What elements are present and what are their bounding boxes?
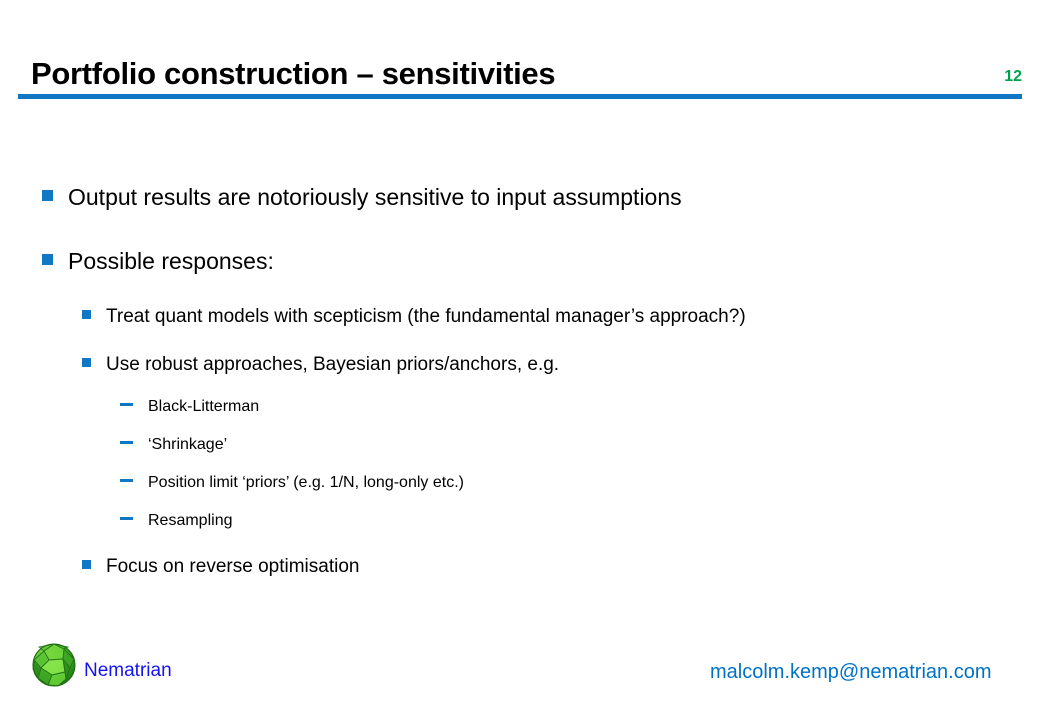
dash-bullet-icon bbox=[120, 479, 133, 482]
square-bullet-icon bbox=[82, 560, 91, 569]
dash-bullet-icon bbox=[120, 403, 133, 406]
square-bullet-icon bbox=[42, 190, 53, 201]
bullet-text: Possible responses: bbox=[68, 248, 274, 275]
dash-bullet-icon bbox=[120, 517, 133, 520]
bullet-item-level-3: Resampling bbox=[120, 512, 232, 530]
bullet-item-level-3: Position limit ‘priors’ (e.g. 1/N, long-… bbox=[120, 474, 464, 492]
bullet-item-level-2: Treat quant models with scepticism (the … bbox=[82, 306, 746, 328]
bullet-text: Use robust approaches, Bayesian priors/a… bbox=[106, 354, 559, 376]
footer-brand-name: Nematrian bbox=[84, 660, 172, 682]
nematrian-polyhedron-logo-icon bbox=[30, 641, 78, 689]
bullet-text: Black-Litterman bbox=[148, 398, 259, 416]
bullet-item-level-2: Use robust approaches, Bayesian priors/a… bbox=[82, 354, 559, 376]
bullet-item-level-3: ‘Shrinkage’ bbox=[120, 436, 227, 454]
bullet-text: Treat quant models with scepticism (the … bbox=[106, 306, 746, 328]
bullet-text: Output results are notoriously sensitive… bbox=[68, 184, 682, 211]
footer-email-address[interactable]: malcolm.kemp@nematrian.com bbox=[710, 661, 992, 684]
bullet-item-level-3: Black-Litterman bbox=[120, 398, 259, 416]
page-title: Portfolio construction – sensitivities bbox=[31, 56, 555, 92]
bullet-item-level-1: Possible responses: bbox=[42, 248, 274, 275]
bullet-item-level-2: Focus on reverse optimisation bbox=[82, 556, 359, 578]
square-bullet-icon bbox=[82, 358, 91, 367]
bullet-text: ‘Shrinkage’ bbox=[148, 436, 227, 454]
bullet-text: Resampling bbox=[148, 512, 232, 530]
square-bullet-icon bbox=[82, 310, 91, 319]
dash-bullet-icon bbox=[120, 441, 133, 444]
bullet-text: Position limit ‘priors’ (e.g. 1/N, long-… bbox=[148, 474, 464, 492]
header-divider bbox=[18, 94, 1022, 99]
slide-page-number: 12 bbox=[1004, 68, 1022, 86]
bullet-item-level-1: Output results are notoriously sensitive… bbox=[42, 184, 682, 211]
bullet-text: Focus on reverse optimisation bbox=[106, 556, 359, 578]
square-bullet-icon bbox=[42, 254, 53, 265]
